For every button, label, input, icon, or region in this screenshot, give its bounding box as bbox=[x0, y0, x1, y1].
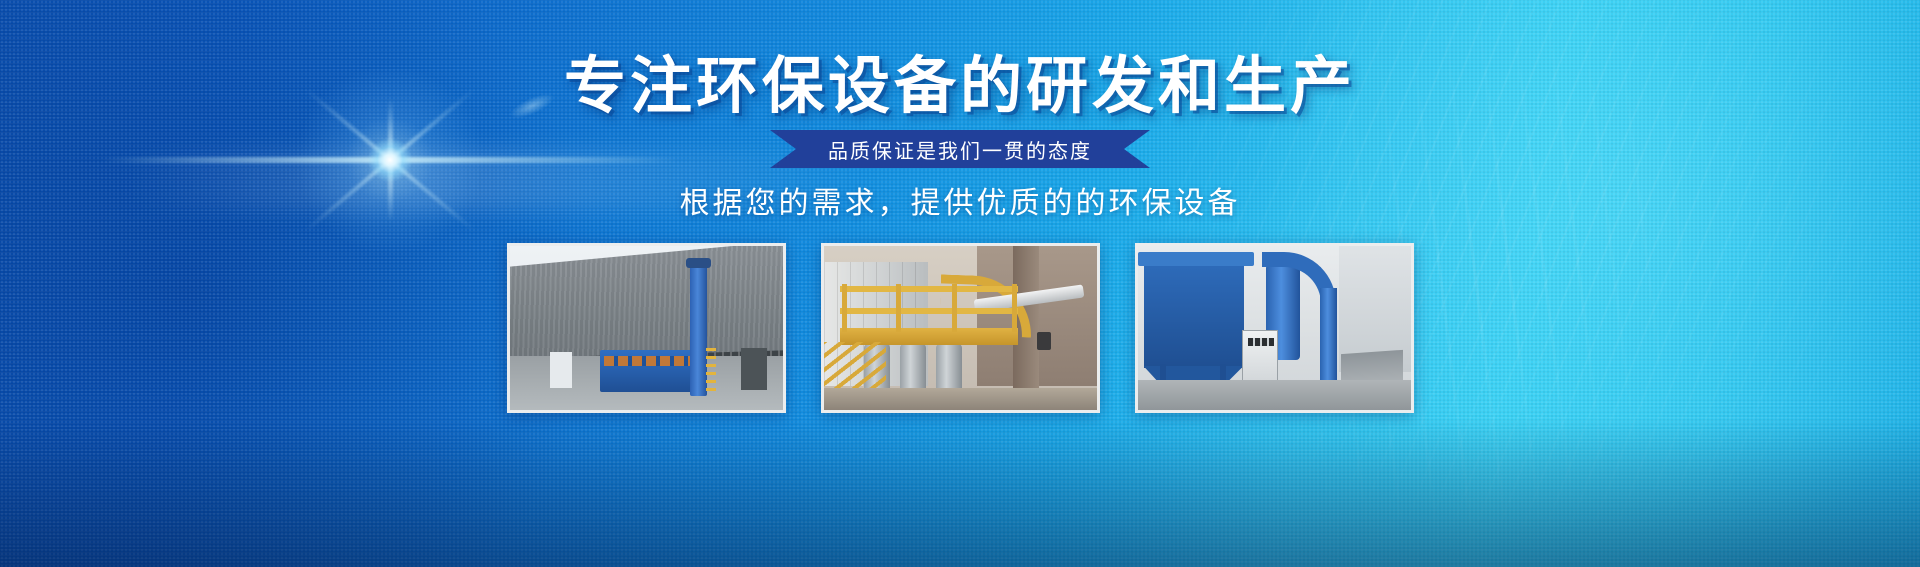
photo-strip bbox=[0, 243, 1920, 413]
workshop-floor bbox=[1138, 380, 1411, 410]
factory-floor bbox=[824, 388, 1097, 410]
banner-content: 专注环保设备的研发和生产 品质保证是我们一贯的态度 根据您的需求，提供优质的的环… bbox=[0, 0, 1920, 567]
collector-top-cap bbox=[1138, 252, 1254, 266]
hero-banner: 专注环保设备的研发和生产 品质保证是我们一贯的态度 根据您的需求，提供优质的的环… bbox=[0, 0, 1920, 567]
rail-post-a bbox=[842, 284, 847, 332]
stack-cap bbox=[686, 258, 711, 268]
down-pipe bbox=[1320, 288, 1337, 392]
rail-post-c bbox=[952, 284, 957, 332]
control-box bbox=[1037, 332, 1051, 350]
rail-post-d bbox=[1012, 284, 1017, 332]
banner-ribbon-badge: 品质保证是我们一贯的态度 bbox=[770, 130, 1150, 168]
photo-thumbnail-3[interactable] bbox=[1135, 243, 1414, 413]
door-left bbox=[550, 352, 572, 388]
photo-thumbnail-1[interactable] bbox=[507, 243, 786, 413]
banner-headline: 专注环保设备的研发和生产 bbox=[0, 55, 1920, 117]
equipment-unit bbox=[600, 350, 704, 392]
handrail-mid bbox=[840, 308, 1018, 314]
access-stairs bbox=[824, 342, 886, 394]
dust-collector-body bbox=[1144, 260, 1244, 368]
ribbon-container: 品质保证是我们一贯的态度 bbox=[0, 130, 1920, 168]
photo-3-scene bbox=[1138, 246, 1411, 410]
door-right bbox=[741, 348, 767, 390]
photo-thumbnail-2[interactable] bbox=[821, 243, 1100, 413]
banner-subline: 根据您的需求，提供优质的的环保设备 bbox=[0, 178, 1920, 222]
photo-1-scene bbox=[510, 246, 783, 410]
photo-2-scene bbox=[824, 246, 1097, 410]
rail-post-b bbox=[896, 284, 901, 332]
exhaust-stack bbox=[690, 264, 707, 396]
stack-ladder bbox=[706, 348, 716, 394]
handrail-top bbox=[840, 286, 1018, 292]
